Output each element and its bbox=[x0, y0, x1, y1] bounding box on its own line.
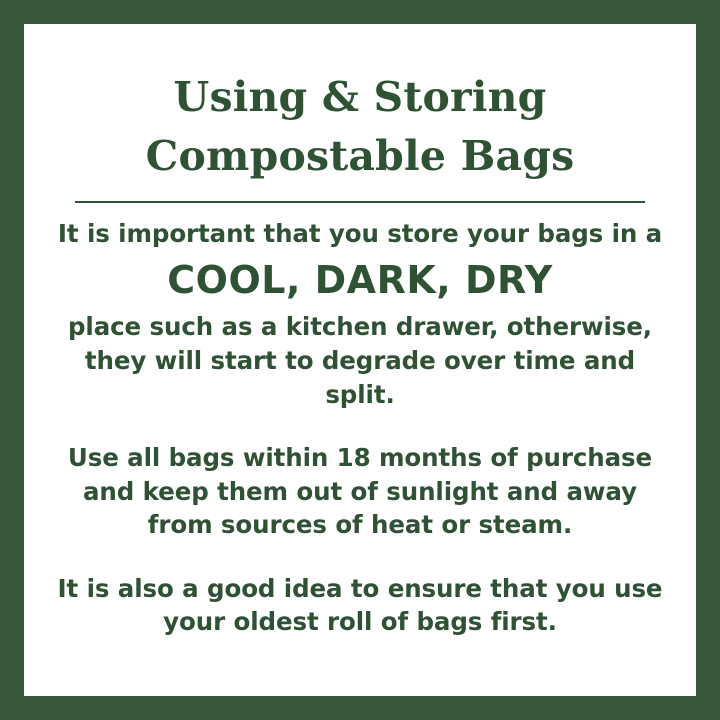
paragraph-2-line-2: and keep them out of sunlight and away bbox=[50, 475, 670, 509]
paragraph-3: It is also a good idea to ensure that yo… bbox=[50, 572, 670, 639]
paragraph-2-line-3: from sources of heat or steam. bbox=[50, 508, 670, 542]
paragraph-2-line-1: Use all bags within 18 months of purchas… bbox=[50, 441, 670, 475]
intro-rest-line-2: they will start to degrade over time and… bbox=[85, 346, 635, 409]
paragraph-3-line-2: your oldest roll of bags first. bbox=[50, 605, 670, 639]
intro-line: It is important that you store your bags… bbox=[58, 219, 662, 248]
page-title: Using & Storing Compostable Bags bbox=[50, 68, 670, 187]
emphasis-text: COOL, DARK, DRY bbox=[50, 250, 670, 310]
paragraph-3-line-1: It is also a good idea to ensure that yo… bbox=[50, 572, 670, 606]
title-divider bbox=[75, 201, 645, 203]
intro-rest-line-1: place such as a kitchen drawer, otherwis… bbox=[68, 312, 652, 341]
page-title-line-2: Compostable Bags bbox=[50, 127, 670, 186]
page-title-line-1: Using & Storing bbox=[50, 68, 670, 127]
paragraph-2: Use all bags within 18 months of purchas… bbox=[50, 441, 670, 542]
info-card: Using & Storing Compostable Bags It is i… bbox=[24, 24, 696, 696]
intro-paragraph: It is important that you store your bags… bbox=[50, 217, 670, 411]
